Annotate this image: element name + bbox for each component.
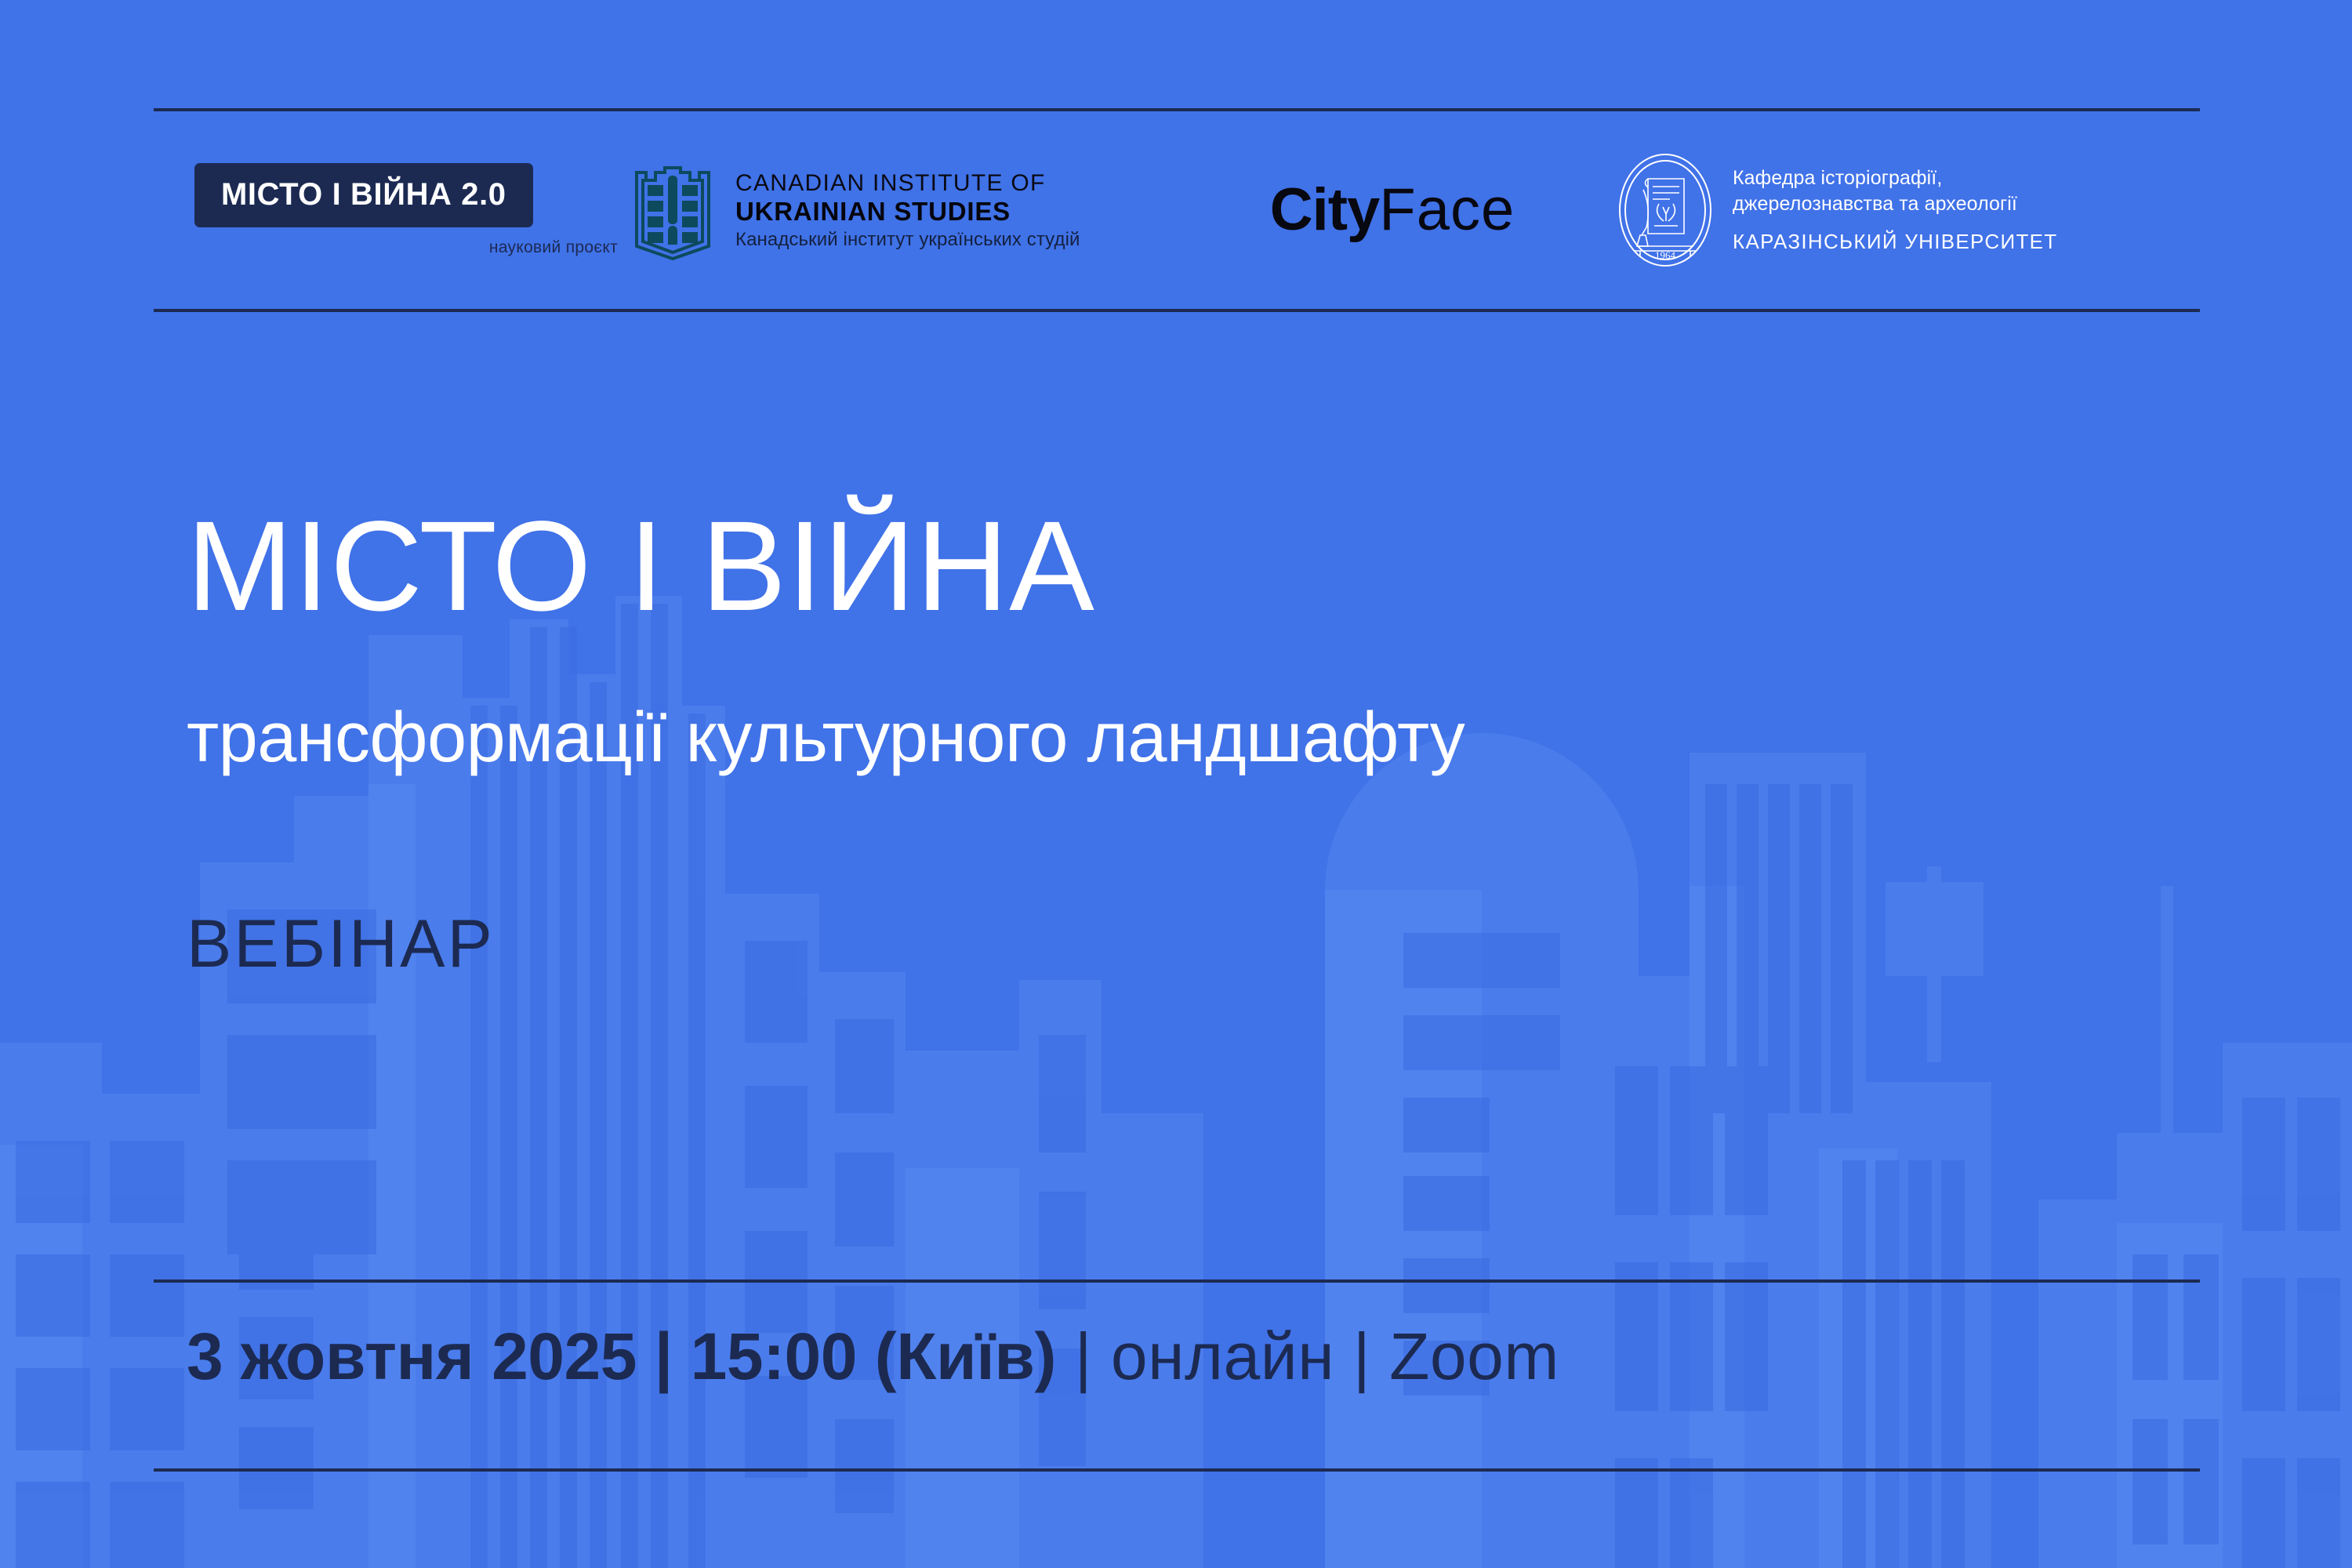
logo-cityface-thin: Face	[1379, 176, 1515, 243]
logo-misto-i-viyna[interactable]: МІСТО І ВІЙНА 2.0 науковий проєкт	[154, 163, 624, 257]
building-icon	[630, 158, 715, 262]
logo-cius[interactable]: CANADIAN INSTITUTE OF UKRAINIAN STUDIES …	[624, 158, 1189, 262]
logo-karazin-line1: Кафедра історіографії,	[1733, 165, 2057, 192]
logo-karazin-university[interactable]: 1964 Кафедра історіографії, джерелознавс…	[1596, 152, 2200, 268]
logo-cius-line2: UKRAINIAN STUDIES	[735, 197, 1080, 227]
logo-misto-i-viyna-subtitle: науковий проєкт	[194, 238, 624, 257]
logo-cityface-bold: City	[1270, 176, 1380, 243]
logo-karazin-line2: джерелознавства та археології	[1733, 191, 2057, 218]
event-format: | онлайн | Zoom	[1056, 1319, 1559, 1393]
logo-cius-line3: Канадський інститут українських студій	[735, 229, 1080, 250]
logo-karazin-line3: КАРАЗІНСЬКИЙ УНІВЕРСИТЕТ	[1733, 228, 2057, 256]
university-seal-year: 1964	[1655, 249, 1676, 261]
page-title: МІСТО І ВІЙНА	[187, 502, 2194, 630]
event-meta-line: 3 жовтня 2025 | 15:00 (Київ) | онлайн | …	[187, 1323, 1559, 1389]
university-seal-icon: 1964	[1617, 152, 1714, 268]
event-date-time: 3 жовтня 2025 | 15:00 (Київ)	[187, 1319, 1056, 1393]
footer-rule-top	[154, 1279, 2200, 1283]
footer-rule-bottom	[154, 1468, 2200, 1472]
logo-cityface[interactable]: CityFace	[1189, 180, 1596, 240]
header-rule-bottom	[154, 309, 2200, 312]
logo-cius-line1: CANADIAN INSTITUTE OF	[735, 170, 1080, 197]
logo-misto-i-viyna-badge: МІСТО І ВІЙНА 2.0	[194, 163, 533, 227]
partner-logo-strip: МІСТО І ВІЙНА 2.0 науковий проєкт	[154, 111, 2200, 309]
event-kind-label: ВЕБІНАР	[187, 910, 2194, 978]
hero-block: МІСТО І ВІЙНА трансформації культурного …	[187, 502, 2194, 978]
page-subtitle: трансформації культурного ландшафту	[187, 702, 2194, 773]
